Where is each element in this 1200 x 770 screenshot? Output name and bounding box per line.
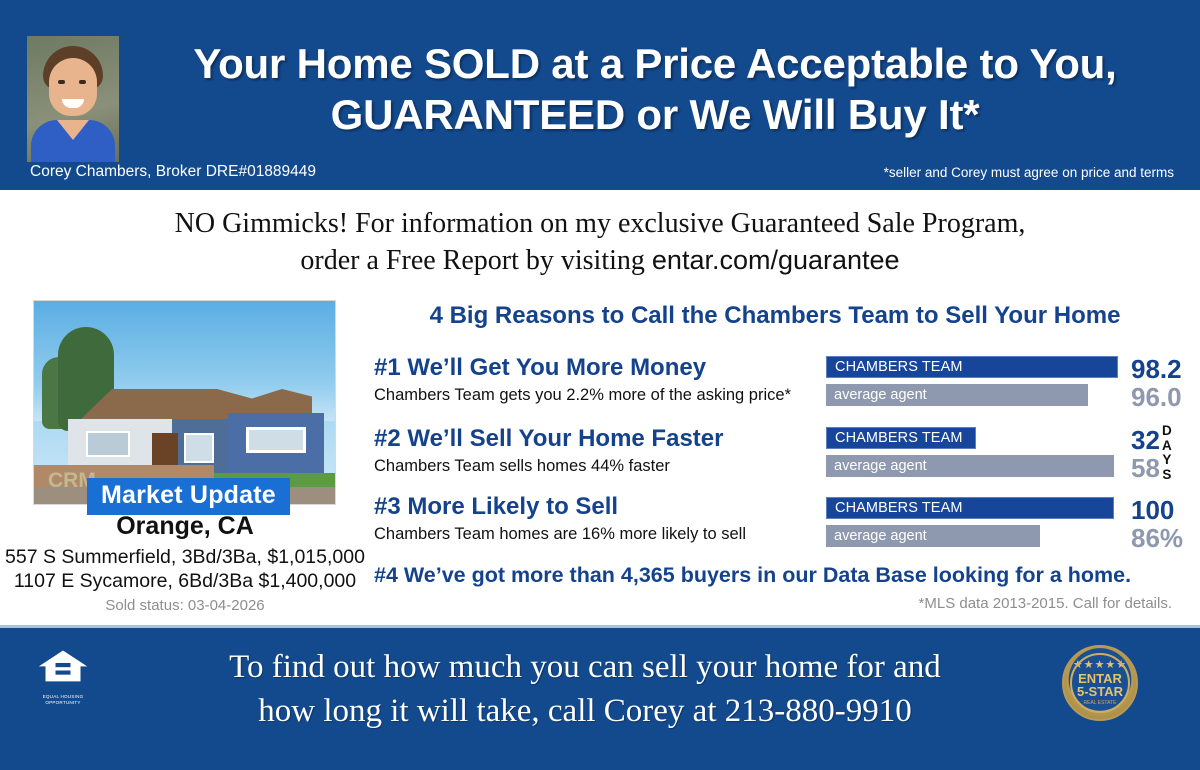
bar-value-average-money: 96.0 — [1131, 382, 1182, 413]
bar-label-chambers-likely: CHAMBERS TEAM — [827, 500, 963, 516]
bar-value-average-likely: 86% — [1131, 523, 1183, 554]
property-listing-1: 557 S Summerfield, 3Bd/3Ba, $1,015,000 — [0, 546, 370, 569]
bar-label-average-days: average agent — [826, 458, 927, 474]
reason-item-1: #1 We’ll Get You More Money Chambers Tea… — [374, 354, 844, 405]
bar-label-average-likely: average agent — [826, 528, 927, 544]
market-update-badge: Market Update — [87, 478, 290, 515]
eho-label-line-2: OPPORTUNITY — [32, 700, 94, 705]
subhead-block: NO Gimmicks! For information on my exclu… — [60, 205, 1140, 279]
bar-chambers-days: CHAMBERS TEAM — [826, 427, 976, 449]
page-title: Your Home SOLD at a Price Acceptable to … — [130, 38, 1180, 140]
bar-label-average-money: average agent — [826, 387, 927, 403]
subhead-line-2-prefix: order a Free Report by visiting — [300, 245, 651, 276]
bar-chambers-money: CHAMBERS TEAM — [826, 356, 1118, 378]
footer-banner: To find out how much you can sell your h… — [0, 625, 1200, 770]
subhead-line-2: order a Free Report by visiting entar.co… — [60, 242, 1140, 279]
flyer-root: Your Home SOLD at a Price Acceptable to … — [0, 0, 1200, 770]
bar-value-chambers-days: 32 — [1131, 425, 1160, 456]
reason-1-subtext: Chambers Team gets you 2.2% more of the … — [374, 386, 844, 405]
days-letter-d: D — [1162, 424, 1172, 439]
equal-housing-opportunity-icon: EQUAL HOUSING OPPORTUNITY — [32, 648, 94, 710]
headline-line-2: GUARANTEED or We Will Buy It* — [130, 89, 1180, 140]
headline-line-1: Your Home SOLD at a Price Acceptable to … — [130, 38, 1180, 89]
eho-label-line-1: EQUAL HOUSING — [32, 694, 94, 699]
agent-byline: Corey Chambers, Broker DRE#01889449 — [30, 163, 316, 181]
reason-1-heading: #1 We’ll Get You More Money — [374, 354, 844, 382]
days-letter-y: Y — [1162, 453, 1171, 468]
subhead-line-1: NO Gimmicks! For information on my exclu… — [60, 205, 1140, 242]
reason-2-heading: #2 We’ll Sell Your Home Faster — [374, 425, 844, 453]
property-listing-2: 1107 E Sycamore, 6Bd/3Ba $1,400,000 — [0, 570, 370, 593]
reasons-section-title: 4 Big Reasons to Call the Chambers Team … — [372, 302, 1178, 330]
reason-3-subtext: Chambers Team homes are 16% more likely … — [374, 525, 844, 544]
reason-3-heading: #3 More Likely to Sell — [374, 493, 844, 521]
entar-5-star-seal: ★★★★★ ENTAR 5-STAR REAL ESTATE — [1062, 645, 1138, 721]
header-disclaimer: *seller and Corey must agree on price an… — [884, 165, 1174, 180]
header-banner: Your Home SOLD at a Price Acceptable to … — [0, 0, 1200, 190]
footer-line-2: how long it will take, call Corey at 213… — [120, 690, 1050, 734]
days-letter-a: A — [1162, 439, 1172, 454]
seal-ring — [1070, 653, 1130, 713]
property-city: Orange, CA — [0, 512, 370, 541]
footer-line-1: To find out how much you can sell your h… — [120, 646, 1050, 690]
bar-value-average-days: 58 — [1131, 453, 1160, 484]
footer-cta-text: To find out how much you can sell your h… — [120, 646, 1050, 733]
reason-item-3: #3 More Likely to Sell Chambers Team hom… — [374, 493, 844, 544]
bar-label-chambers-money: CHAMBERS TEAM — [827, 359, 963, 375]
bar-label-chambers-days: CHAMBERS TEAM — [827, 430, 963, 446]
bar-average-days: average agent — [826, 455, 1114, 477]
guarantee-url-link[interactable]: entar.com/guarantee — [652, 245, 900, 275]
property-sold-status: Sold status: 03-04-2026 — [0, 597, 370, 614]
property-photo: CRM — [33, 300, 336, 505]
agent-portrait-photo — [27, 36, 119, 162]
bar-chambers-likely: CHAMBERS TEAM — [826, 497, 1114, 519]
reason-2-subtext: Chambers Team sells homes 44% faster — [374, 457, 844, 476]
reason-item-4: #4 We’ve got more than 4,365 buyers in o… — [374, 563, 1180, 588]
mls-data-note: *MLS data 2013-2015. Call for details. — [919, 595, 1172, 612]
bar-value-chambers-money: 98.2 — [1131, 354, 1182, 385]
bar-average-likely: average agent — [826, 525, 1040, 547]
bar-value-chambers-likely: 100 — [1131, 495, 1174, 526]
days-unit-label: D A Y S — [1162, 424, 1172, 482]
bar-average-money: average agent — [826, 384, 1088, 406]
days-letter-s: S — [1162, 468, 1171, 483]
reason-item-2: #2 We’ll Sell Your Home Faster Chambers … — [374, 425, 844, 476]
